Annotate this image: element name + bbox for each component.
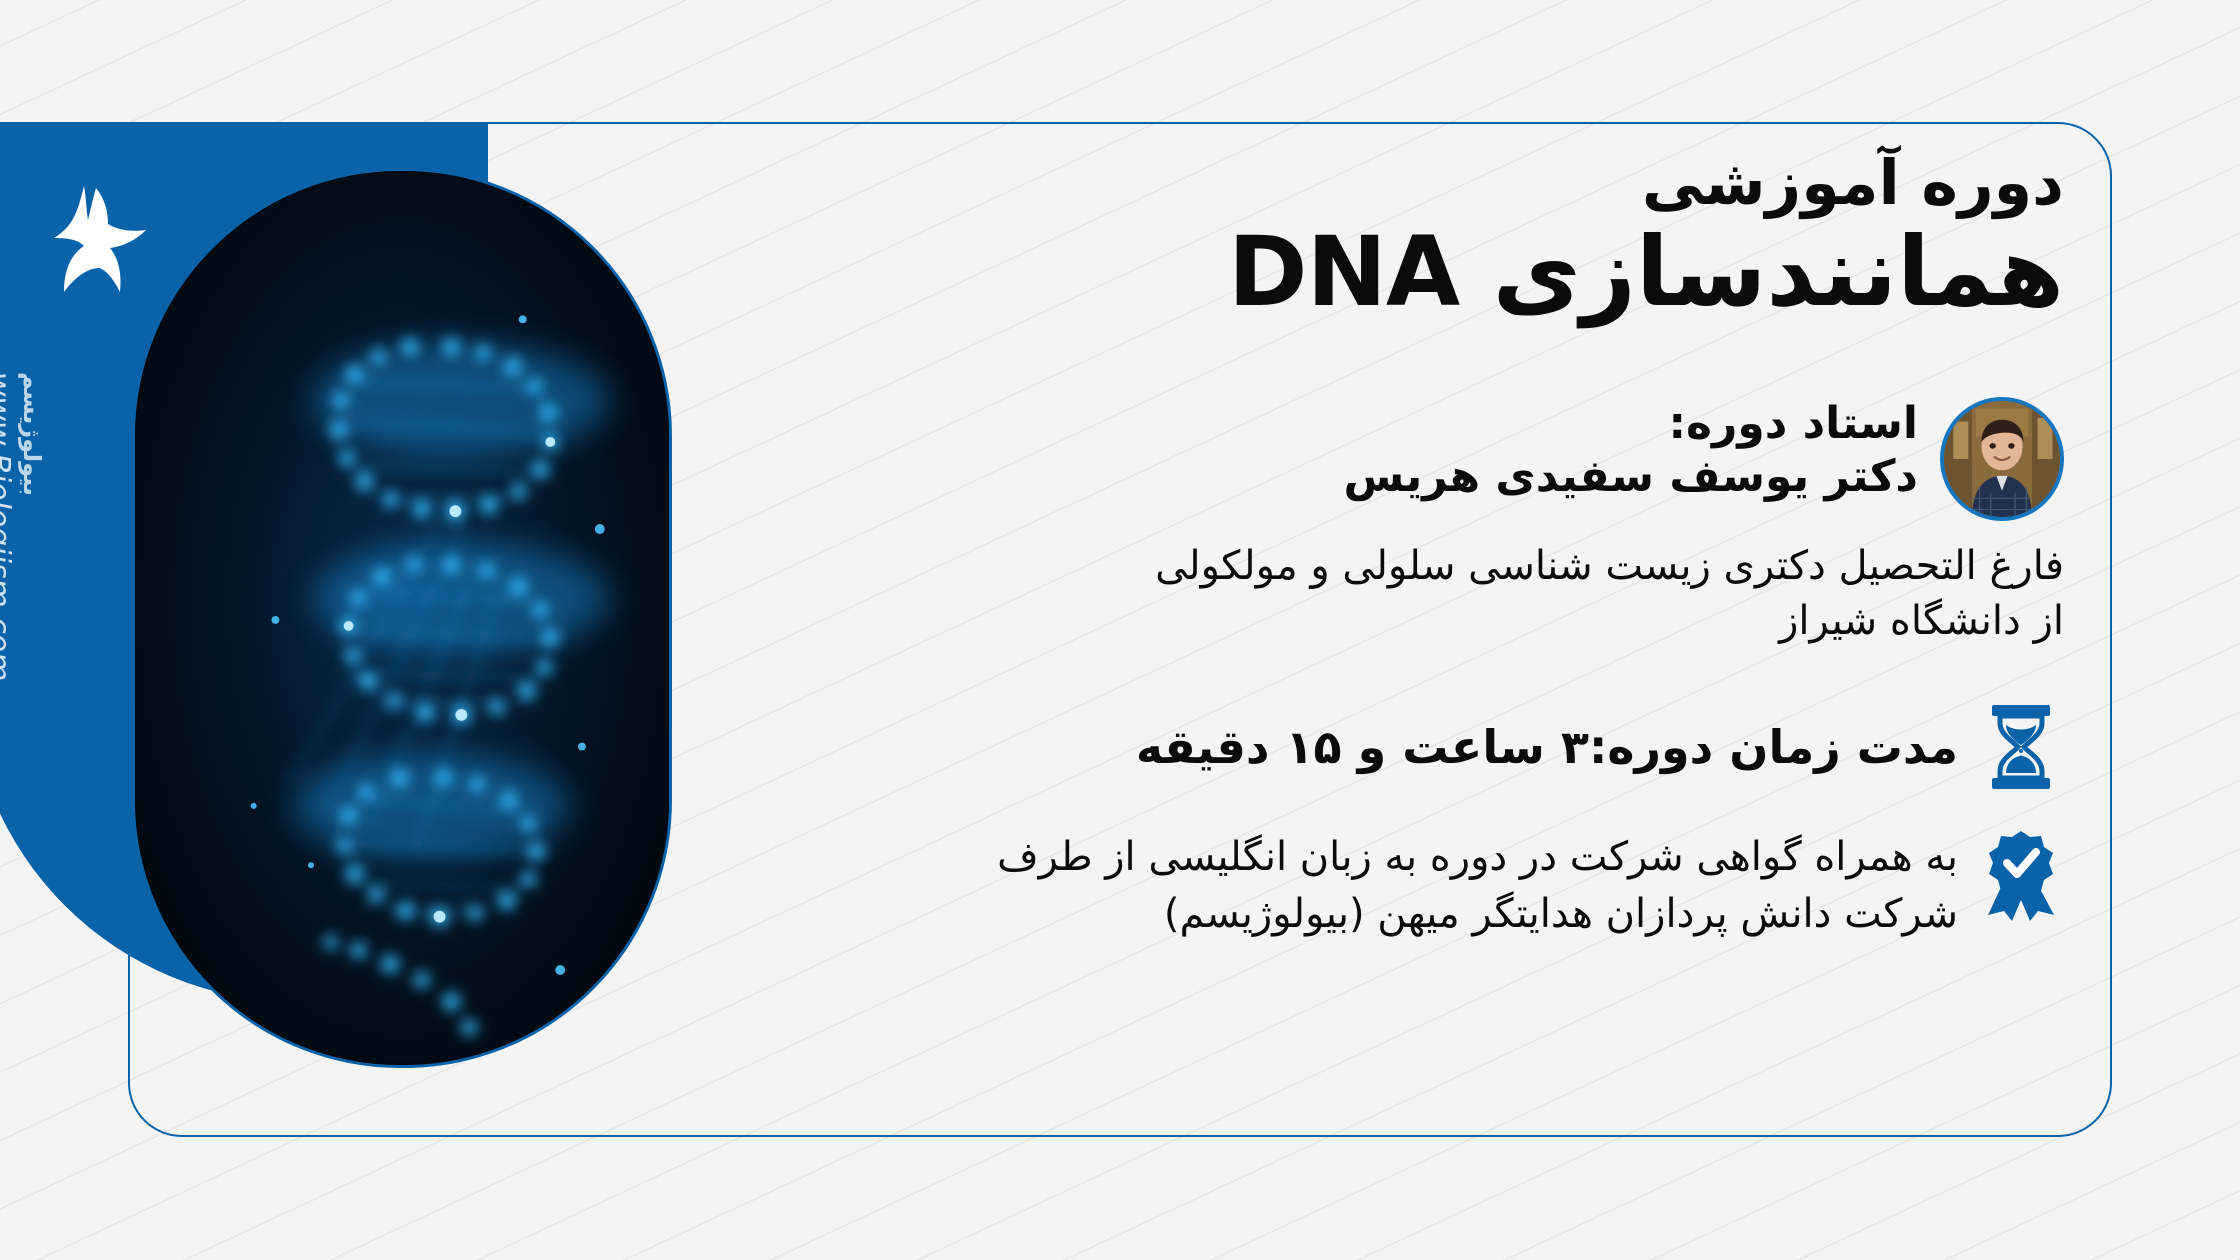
instructor-block: استاد دوره: دکتر یوسف سفیدی هریس	[644, 397, 2064, 521]
page-title: همانندسازی DNA	[644, 221, 2064, 325]
dna-double-helix-image	[132, 168, 672, 1068]
instructor-label: استاد دوره:	[644, 397, 1918, 451]
vertical-brand-block: بیولوژیسم www.Biologiism.com	[0, 372, 46, 672]
course-info-column: دوره آموزشی همانندسازی DNA	[644, 150, 2064, 943]
credential-line-2: از دانشگاه شیراز	[644, 594, 2064, 649]
vertical-brand-label: بیولوژیسم	[18, 372, 46, 496]
avatar	[1940, 397, 2064, 521]
website-url[interactable]: www.Biologiism.com	[0, 372, 16, 681]
certificate-line-2: شرکت دانش پردازان هدایتگر میهن (بیولوژیس…	[644, 886, 1958, 943]
hourglass-icon	[1978, 701, 2064, 793]
biologism-leaf-logo-icon	[26, 180, 156, 300]
duration-row: مدت زمان دوره:۳ ساعت و ۱۵ دقیقه	[644, 701, 2064, 793]
award-badge-icon	[1978, 829, 2064, 921]
instructor-name: دکتر یوسف سفیدی هریس	[644, 450, 1918, 504]
instructor-credentials: فارغ التحصیل دکتری زیست شناسی سلولی و مو…	[644, 539, 2064, 649]
credential-line-1: فارغ التحصیل دکتری زیست شناسی سلولی و مو…	[644, 539, 2064, 594]
page-kicker: دوره آموزشی	[644, 150, 2064, 215]
duration-text: مدت زمان دوره:۳ ساعت و ۱۵ دقیقه	[644, 721, 1958, 774]
certificate-line-1: به همراه گواهی شرکت در دوره به زبان انگل…	[644, 829, 1958, 886]
certificate-row: به همراه گواهی شرکت در دوره به زبان انگل…	[644, 829, 2064, 943]
